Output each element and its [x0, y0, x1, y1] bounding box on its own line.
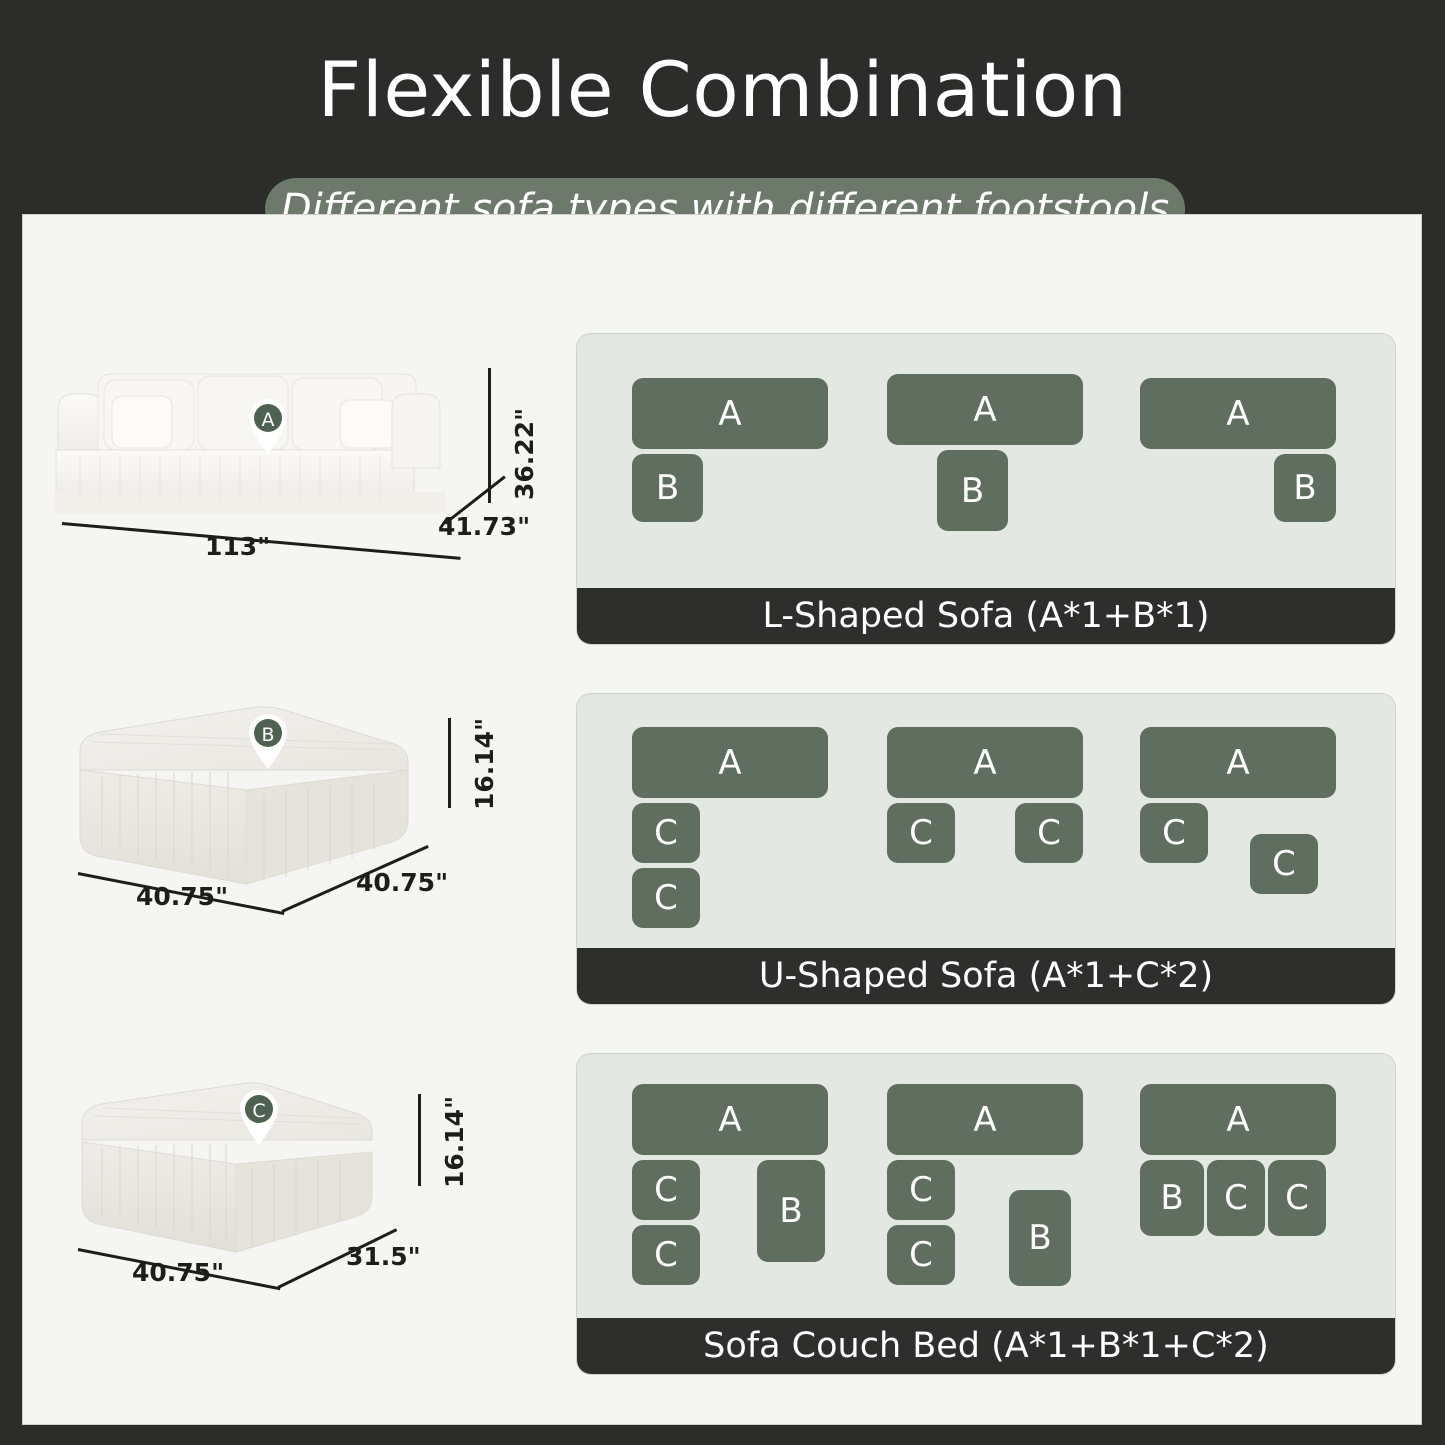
- height-rule-c: [418, 1094, 421, 1186]
- panel-stage: ACCACCACC: [577, 694, 1395, 948]
- module-block-b: B: [632, 454, 703, 522]
- height-rule-b: [448, 718, 451, 808]
- module-block-c: C: [632, 1160, 700, 1220]
- dim-depth-a: 41.73": [438, 512, 530, 541]
- panel-stage: ABABAB: [577, 334, 1395, 588]
- module-block-b: B: [1009, 1190, 1071, 1286]
- product-row-a: A 113" 41.73" 36.22": [40, 350, 550, 640]
- module-block-c: C: [632, 868, 700, 928]
- module-block-c: C: [1140, 803, 1208, 863]
- dim-depth-c: 31.5": [346, 1242, 421, 1271]
- product-row-c: C 40.75" 31.5" 16.14": [40, 1070, 550, 1360]
- panel-caption: Sofa Couch Bed (A*1+B*1+C*2): [577, 1318, 1395, 1374]
- module-block-b: B: [1274, 454, 1336, 522]
- module-block-c: C: [1268, 1160, 1326, 1236]
- dim-width-c: 40.75": [132, 1258, 224, 1287]
- marker-pin-c: C: [236, 1088, 282, 1146]
- module-block-a: A: [632, 378, 828, 449]
- module-block-b: B: [937, 450, 1008, 531]
- marker-letter-a: A: [262, 409, 275, 431]
- combination-panel-sofa-bed: ACCBACCBABCC Sofa Couch Bed (A*1+B*1+C*2…: [577, 1054, 1395, 1374]
- marker-pin-a: A: [245, 397, 291, 455]
- combination-panel-l-shaped: ABABAB L-Shaped Sofa (A*1+B*1): [577, 334, 1395, 644]
- module-block-a: A: [632, 1084, 828, 1155]
- module-block-a: A: [887, 1084, 1083, 1155]
- product-row-b: B 40.75" 40.75" 16.14": [40, 690, 550, 980]
- module-block-c: C: [1015, 803, 1083, 863]
- module-block-c: C: [1250, 834, 1318, 894]
- module-block-a: A: [887, 374, 1083, 445]
- dim-width-a: 113": [205, 532, 270, 561]
- page-title: Flexible Combination: [0, 52, 1445, 128]
- module-block-b: B: [1140, 1160, 1204, 1236]
- height-rule-a: [488, 368, 491, 503]
- module-block-a: A: [632, 727, 828, 798]
- module-block-a: A: [1140, 727, 1336, 798]
- marker-letter-c: C: [252, 1100, 265, 1122]
- dim-depth-b: 40.75": [356, 868, 448, 897]
- panel-caption: U-Shaped Sofa (A*1+C*2): [577, 948, 1395, 1004]
- panel-caption: L-Shaped Sofa (A*1+B*1): [577, 588, 1395, 644]
- module-block-c: C: [887, 803, 955, 863]
- infographic-page: Flexible Combination Different sofa type…: [0, 0, 1445, 1445]
- module-block-b: B: [757, 1160, 825, 1262]
- dim-height-a: 36.22": [510, 408, 539, 500]
- module-block-a: A: [887, 727, 1083, 798]
- module-block-c: C: [632, 1225, 700, 1285]
- module-block-c: C: [1207, 1160, 1265, 1236]
- dim-height-b: 16.14": [470, 718, 499, 810]
- module-block-a: A: [1140, 1084, 1336, 1155]
- dim-height-c: 16.14": [440, 1096, 469, 1188]
- module-block-c: C: [887, 1160, 955, 1220]
- panel-stage: ACCBACCBABCC: [577, 1054, 1395, 1318]
- combination-panel-u-shaped: ACCACCACC U-Shaped Sofa (A*1+C*2): [577, 694, 1395, 1004]
- module-block-a: A: [1140, 378, 1336, 449]
- module-block-c: C: [632, 803, 700, 863]
- marker-pin-b: B: [245, 712, 291, 770]
- marker-letter-b: B: [261, 724, 274, 746]
- module-block-c: C: [887, 1225, 955, 1285]
- dim-width-b: 40.75": [136, 882, 228, 911]
